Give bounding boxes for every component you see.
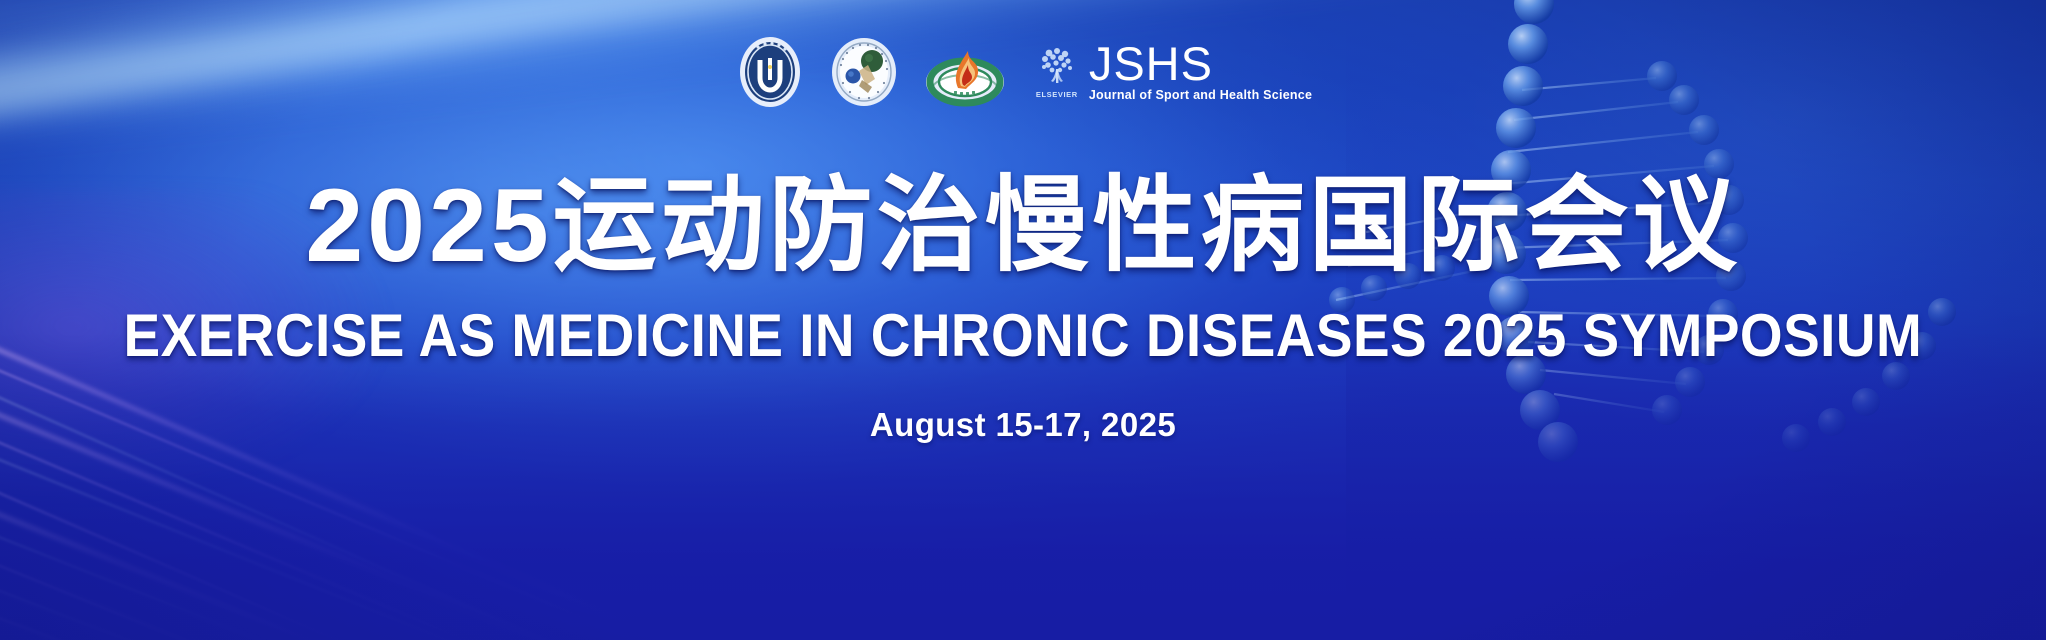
conference-title-english: EXERCISE AS MEDICINE IN CHRONIC DISEASES… (124, 306, 1923, 366)
institute-seal-logo (828, 35, 900, 109)
conference-date: August 15-17, 2025 (870, 408, 1176, 441)
torch-emblem-logo (922, 34, 1008, 110)
jshs-abbreviation: JSHS (1089, 42, 1312, 85)
elsevier-wordmark: ELSEVIER (1036, 91, 1078, 99)
jshs-full-title: Journal of Sport and Health Science (1089, 88, 1312, 102)
conference-title-chinese: 2025运动防治慢性病国际会议 (305, 174, 1740, 278)
logo-row: ELSEVIER JSHS Journal of Sport and Healt… (734, 34, 1312, 110)
banner-content: ELSEVIER JSHS Journal of Sport and Healt… (0, 0, 2046, 640)
shanghai-university-of-sport-logo (734, 34, 806, 110)
elsevier-publisher-mark: ELSEVIER (1034, 46, 1080, 99)
jshs-text-block: JSHS Journal of Sport and Health Science (1089, 42, 1312, 102)
conference-banner: ELSEVIER JSHS Journal of Sport and Healt… (0, 0, 2046, 640)
elsevier-tree-icon (1037, 46, 1077, 90)
jshs-journal-logo: ELSEVIER JSHS Journal of Sport and Healt… (1034, 42, 1312, 102)
